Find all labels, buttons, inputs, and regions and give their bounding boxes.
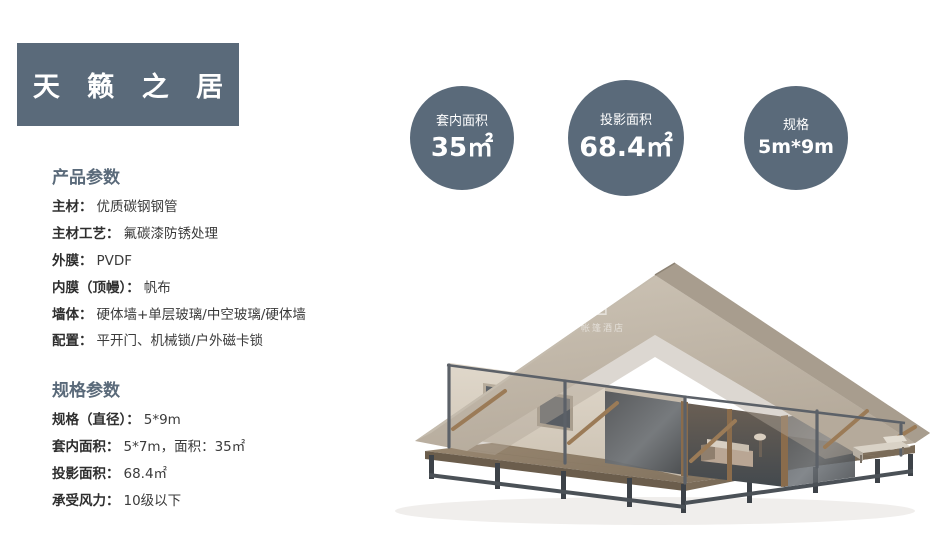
badge-label: 投影面积 [600, 113, 652, 129]
spec-label: 配置： [52, 333, 93, 350]
spec-row: 主材工艺： 氟碳漆防锈处理 [52, 226, 382, 243]
spec-label: 承受风力： [52, 493, 120, 510]
spec-value: 帆布 [144, 280, 171, 297]
spec-label: 投影面积： [52, 466, 120, 483]
spec-value: 5*9m [144, 412, 181, 429]
spec-value: PVDF [97, 253, 133, 270]
page-title: 天 籁 之 居 [24, 65, 232, 104]
section-heading-product: 产品参数 [52, 163, 382, 188]
spec-value: 氟碳漆防锈处理 [124, 226, 219, 243]
spec-value: 平开门、机械锁/户外磁卡锁 [97, 333, 264, 350]
spec-label: 套内面积： [52, 439, 120, 456]
spec-row: 主材： 优质碳钢钢管 [52, 199, 382, 216]
spec-row: 内膜（顶幔）： 帆布 [52, 280, 382, 297]
badge-dimensions: 规格 5m*9m [744, 86, 848, 190]
spec-label: 主材工艺： [52, 226, 120, 243]
spec-value: 优质碳钢钢管 [97, 199, 178, 216]
badge-label: 规格 [783, 118, 809, 134]
spec-label: 外膜： [52, 253, 93, 270]
page-root: 天 籁 之 居 产品参数 主材： 优质碳钢钢管 主材工艺： 氟碳漆防锈处理 外膜… [0, 0, 950, 534]
spec-row: 配置： 平开门、机械锁/户外磁卡锁 [52, 333, 382, 350]
badge-value: 5m*9m [758, 137, 834, 158]
spec-row: 套内面积： 5*7m，面积：35㎡ [52, 439, 382, 456]
spec-row: 外膜： PVDF [52, 253, 382, 270]
badge-projected-area: 投影面积 68.4㎡ [568, 80, 684, 196]
badge-interior-area: 套内面积 35㎡ [410, 86, 514, 190]
spec-value: 68.4㎡ [124, 466, 168, 483]
spec-value: 硬体墙+单层玻璃/中空玻璃/硬体墙 [97, 307, 306, 324]
spec-label: 规格（直径）： [52, 412, 140, 429]
tent-house-render: ⌂ 帐篷酒店 [355, 215, 950, 525]
spec-label: 墙体： [52, 307, 93, 324]
spec-label: 主材： [52, 199, 93, 216]
section-heading-specs: 规格参数 [52, 376, 382, 401]
badge-value: 68.4㎡ [579, 133, 673, 163]
specifications-panel: 产品参数 主材： 优质碳钢钢管 主材工艺： 氟碳漆防锈处理 外膜： PVDF 内… [52, 163, 382, 520]
spec-value: 5*7m，面积：35㎡ [124, 439, 246, 456]
badge-label: 套内面积 [436, 114, 488, 130]
title-banner: 天 籁 之 居 [17, 43, 239, 126]
spec-row: 规格（直径）： 5*9m [52, 412, 382, 429]
ground-shadow [395, 497, 915, 525]
spec-label: 内膜（顶幔）： [52, 280, 140, 297]
spec-row: 墙体： 硬体墙+单层玻璃/中空玻璃/硬体墙 [52, 307, 382, 324]
badge-value: 35㎡ [431, 134, 493, 163]
render-illustration [355, 215, 950, 525]
spec-value: 10级以下 [124, 493, 182, 510]
spec-row: 承受风力： 10级以下 [52, 493, 382, 510]
spec-row: 投影面积： 68.4㎡ [52, 466, 382, 483]
